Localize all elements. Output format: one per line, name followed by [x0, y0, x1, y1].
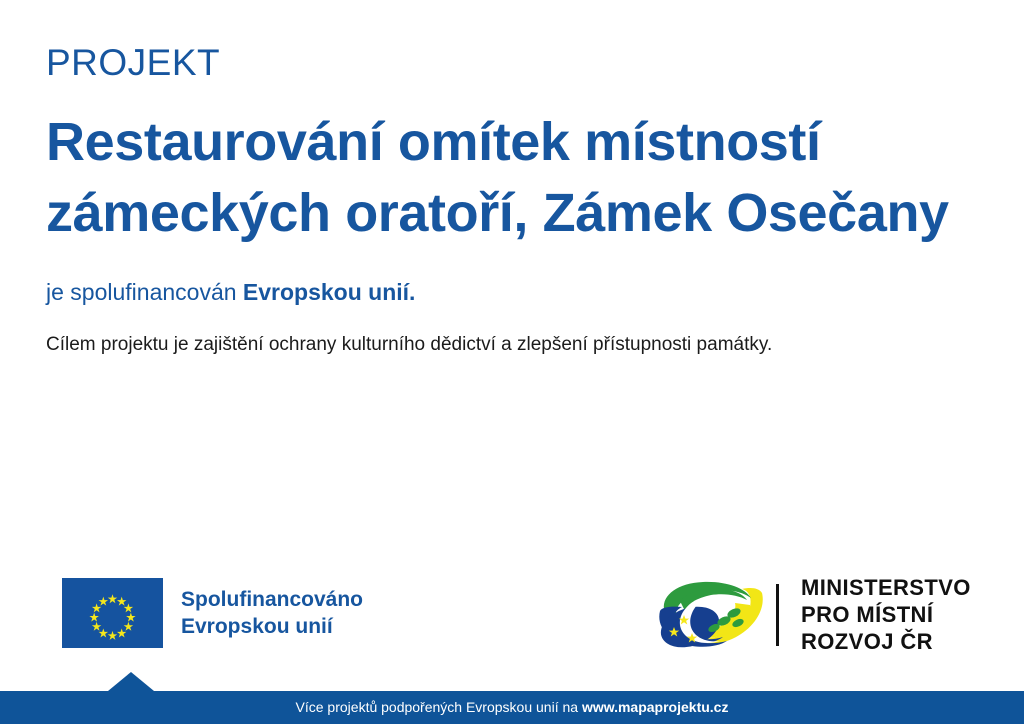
project-kicker: PROJEKT — [46, 44, 976, 81]
project-goal-text: Cílem projektu je zajištění ochrany kult… — [46, 333, 976, 358]
footer-text-prefix: Více projektů podpořených Evropskou unií… — [296, 699, 582, 715]
funding-statement: je spolufinancován Evropskou unií. — [46, 279, 976, 307]
ministry-logo-caption: MINISTERSTVO PRO MÍSTNÍ ROZVOJ ČR — [801, 574, 971, 655]
eu-logo-caption: Spolufinancováno Evropskou unií — [181, 586, 363, 640]
eu-cofunding-logo: Spolufinancováno Evropskou unií — [62, 578, 363, 648]
logo-strip: Spolufinancováno Evropskou unií — [0, 566, 1024, 661]
footer-text: Více projektů podpořených Evropskou unií… — [0, 691, 1024, 724]
eu-logo-caption-line-2: Evropskou unií — [181, 613, 363, 640]
project-title: Restaurování omítek místností zámeckých … — [46, 107, 976, 249]
project-title-line-2: zámeckých oratoří, Zámek Osečany — [46, 178, 976, 249]
funding-statement-emphasis: Evropskou unií. — [243, 279, 416, 305]
eu-flag-icon — [62, 578, 163, 648]
ministry-logo-caption-line-2: PRO MÍSTNÍ — [801, 601, 971, 628]
ministry-swirl-icon — [650, 575, 768, 655]
poster-content: PROJEKT Restaurování omítek místností zá… — [46, 44, 976, 357]
footer-bar: Více projektů podpořených Evropskou unií… — [0, 691, 1024, 724]
footer-link-url[interactable]: www.mapaprojektu.cz — [582, 699, 729, 715]
project-title-line-1: Restaurování omítek místností — [46, 107, 976, 178]
funding-statement-prefix: je spolufinancován — [46, 279, 243, 305]
eu-logo-caption-line-1: Spolufinancováno — [181, 586, 363, 613]
ministry-regional-development-logo: MINISTERSTVO PRO MÍSTNÍ ROZVOJ ČR — [650, 574, 971, 655]
footer-notch-triangle — [108, 672, 154, 691]
project-poster: PROJEKT Restaurování omítek místností zá… — [0, 0, 1024, 724]
ministry-logo-divider — [776, 584, 779, 646]
ministry-logo-caption-line-1: MINISTERSTVO — [801, 574, 971, 601]
ministry-logo-caption-line-3: ROZVOJ ČR — [801, 628, 971, 655]
